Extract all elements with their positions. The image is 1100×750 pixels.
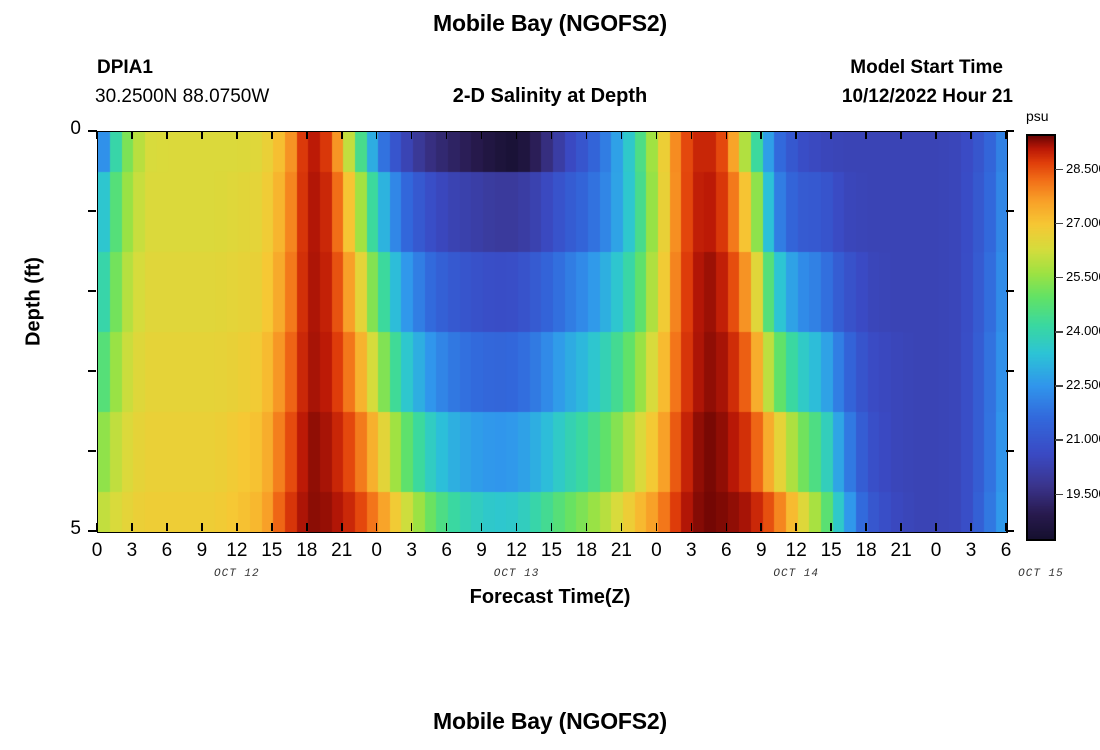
colorbar-tick-label: 21.000 [1066, 431, 1100, 446]
x-axis-tick-top [516, 131, 518, 139]
x-axis-tick [481, 523, 483, 531]
x-axis-tick-top [830, 131, 832, 139]
x-axis-tick-top [236, 131, 238, 139]
x-axis-day-label: OCT 13 [457, 568, 577, 580]
x-axis-tick-top [970, 131, 972, 139]
x-axis-tick [935, 523, 937, 531]
x-axis-tick-top [935, 131, 937, 139]
model-start-time-label: Model Start Time [0, 57, 1003, 79]
x-axis-tick [516, 523, 518, 531]
y-axis-tick [88, 210, 96, 212]
x-axis-tick-top [795, 131, 797, 139]
x-axis-tick-top [131, 131, 133, 139]
y-axis-tick-right [1006, 210, 1014, 212]
y-axis-tick-right [1006, 370, 1014, 372]
colorbar-tick-label: 28.500 [1066, 161, 1100, 176]
colorbar-tick-label: 22.500 [1066, 377, 1100, 392]
x-axis-tick-top [96, 131, 98, 139]
y-axis-tick-right [1006, 450, 1014, 452]
x-axis-tick-top [551, 131, 553, 139]
salinity-heatmap [98, 132, 1007, 532]
x-axis-tick [306, 523, 308, 531]
y-axis-tick [88, 450, 96, 452]
colorbar-tick-label: 24.000 [1066, 323, 1100, 338]
colorbar-tick [1055, 331, 1063, 333]
x-axis-tick-top [166, 131, 168, 139]
x-axis-tick [900, 523, 902, 531]
colorbar-tick [1055, 169, 1063, 171]
x-axis-tick [621, 523, 623, 531]
colorbar-tick-label: 25.500 [1066, 269, 1100, 284]
x-axis-tick-top [865, 131, 867, 139]
x-axis-tick-top [376, 131, 378, 139]
page-title: Mobile Bay (NGOFS2) [0, 10, 1100, 37]
colorbar-tick [1055, 277, 1063, 279]
x-axis-tick [586, 523, 588, 531]
x-axis-tick-top [900, 131, 902, 139]
colorbar-tick [1055, 439, 1063, 441]
y-axis-tick [88, 290, 96, 292]
y-axis-tick [88, 530, 97, 532]
x-axis-day-label: OCT 14 [736, 568, 856, 580]
y-axis-tick [88, 370, 96, 372]
x-axis-tick [551, 523, 553, 531]
y-axis-tick-label: 5 [41, 518, 81, 540]
x-axis-tick [271, 523, 273, 531]
x-axis-tick-top [760, 131, 762, 139]
y-axis-tick-label: 0 [41, 118, 81, 140]
x-axis-label: Forecast Time(Z) [0, 586, 1100, 609]
x-axis-tick-top [341, 131, 343, 139]
colorbar-tick-label: 27.000 [1066, 215, 1100, 230]
x-axis-day-label: OCT 12 [177, 568, 297, 580]
heatmap-plot-area [97, 131, 1008, 533]
x-axis-tick [341, 523, 343, 531]
x-axis-tick [446, 523, 448, 531]
x-axis-tick-top [201, 131, 203, 139]
x-axis-tick [166, 523, 168, 531]
x-axis-tick [411, 523, 413, 531]
colorbar [1026, 134, 1056, 541]
x-axis-tick-top [481, 131, 483, 139]
colorbar-tick [1055, 385, 1063, 387]
x-axis-tick [760, 523, 762, 531]
x-axis-tick [131, 523, 133, 531]
x-axis-tick-top [691, 131, 693, 139]
x-axis-tick-top [656, 131, 658, 139]
model-start-time-value: 10/12/2022 Hour 21 [0, 86, 1013, 108]
colorbar-tick [1055, 494, 1063, 496]
x-axis-tick [376, 523, 378, 531]
x-axis-tick [970, 523, 972, 531]
x-axis-tick [830, 523, 832, 531]
x-axis-tick-top [621, 131, 623, 139]
y-axis-tick-right [1006, 530, 1014, 532]
x-axis-tick-label: 6 [986, 540, 1026, 562]
y-axis-tick-right [1006, 130, 1014, 132]
x-axis-tick-top [271, 131, 273, 139]
x-axis-day-label: OCT 15 [981, 568, 1100, 580]
x-axis-tick [656, 523, 658, 531]
y-axis-tick-right [1006, 290, 1014, 292]
x-axis-tick-top [1005, 131, 1007, 139]
x-axis-tick [691, 523, 693, 531]
x-axis-tick-top [586, 131, 588, 139]
colorbar-tick [1055, 223, 1063, 225]
x-axis-tick-top [726, 131, 728, 139]
colorbar-tick-label: 19.500 [1066, 486, 1100, 501]
x-axis-tick [201, 523, 203, 531]
x-axis-tick [865, 523, 867, 531]
x-axis-tick-top [446, 131, 448, 139]
x-axis-tick [236, 523, 238, 531]
y-axis-label: Depth (ft) [23, 222, 46, 382]
x-axis-tick [726, 523, 728, 531]
x-axis-tick-top [411, 131, 413, 139]
footer-title: Mobile Bay (NGOFS2) [0, 708, 1100, 735]
colorbar-gradient [1028, 136, 1054, 539]
x-axis-tick [795, 523, 797, 531]
colorbar-unit-label: psu [1026, 108, 1049, 124]
y-axis-tick [88, 130, 97, 132]
x-axis-tick-top [306, 131, 308, 139]
